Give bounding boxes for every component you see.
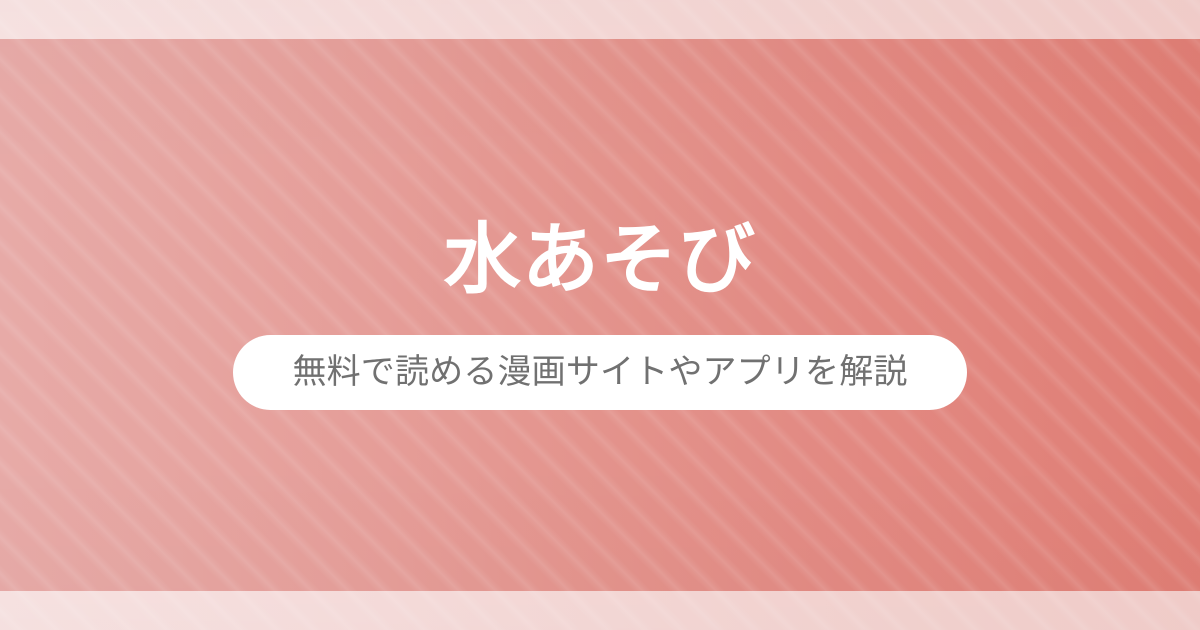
subtitle-text: 無料で読める漫画サイトやアプリを解説 — [292, 355, 907, 389]
banner-content: 水あそび 無料で読める漫画サイトやアプリを解説 — [0, 0, 1200, 630]
banner-title: 水あそび — [444, 220, 757, 302]
ogp-banner: 水あそび 無料で読める漫画サイトやアプリを解説 — [0, 0, 1200, 630]
subtitle-pill: 無料で読める漫画サイトやアプリを解説 — [233, 335, 967, 410]
